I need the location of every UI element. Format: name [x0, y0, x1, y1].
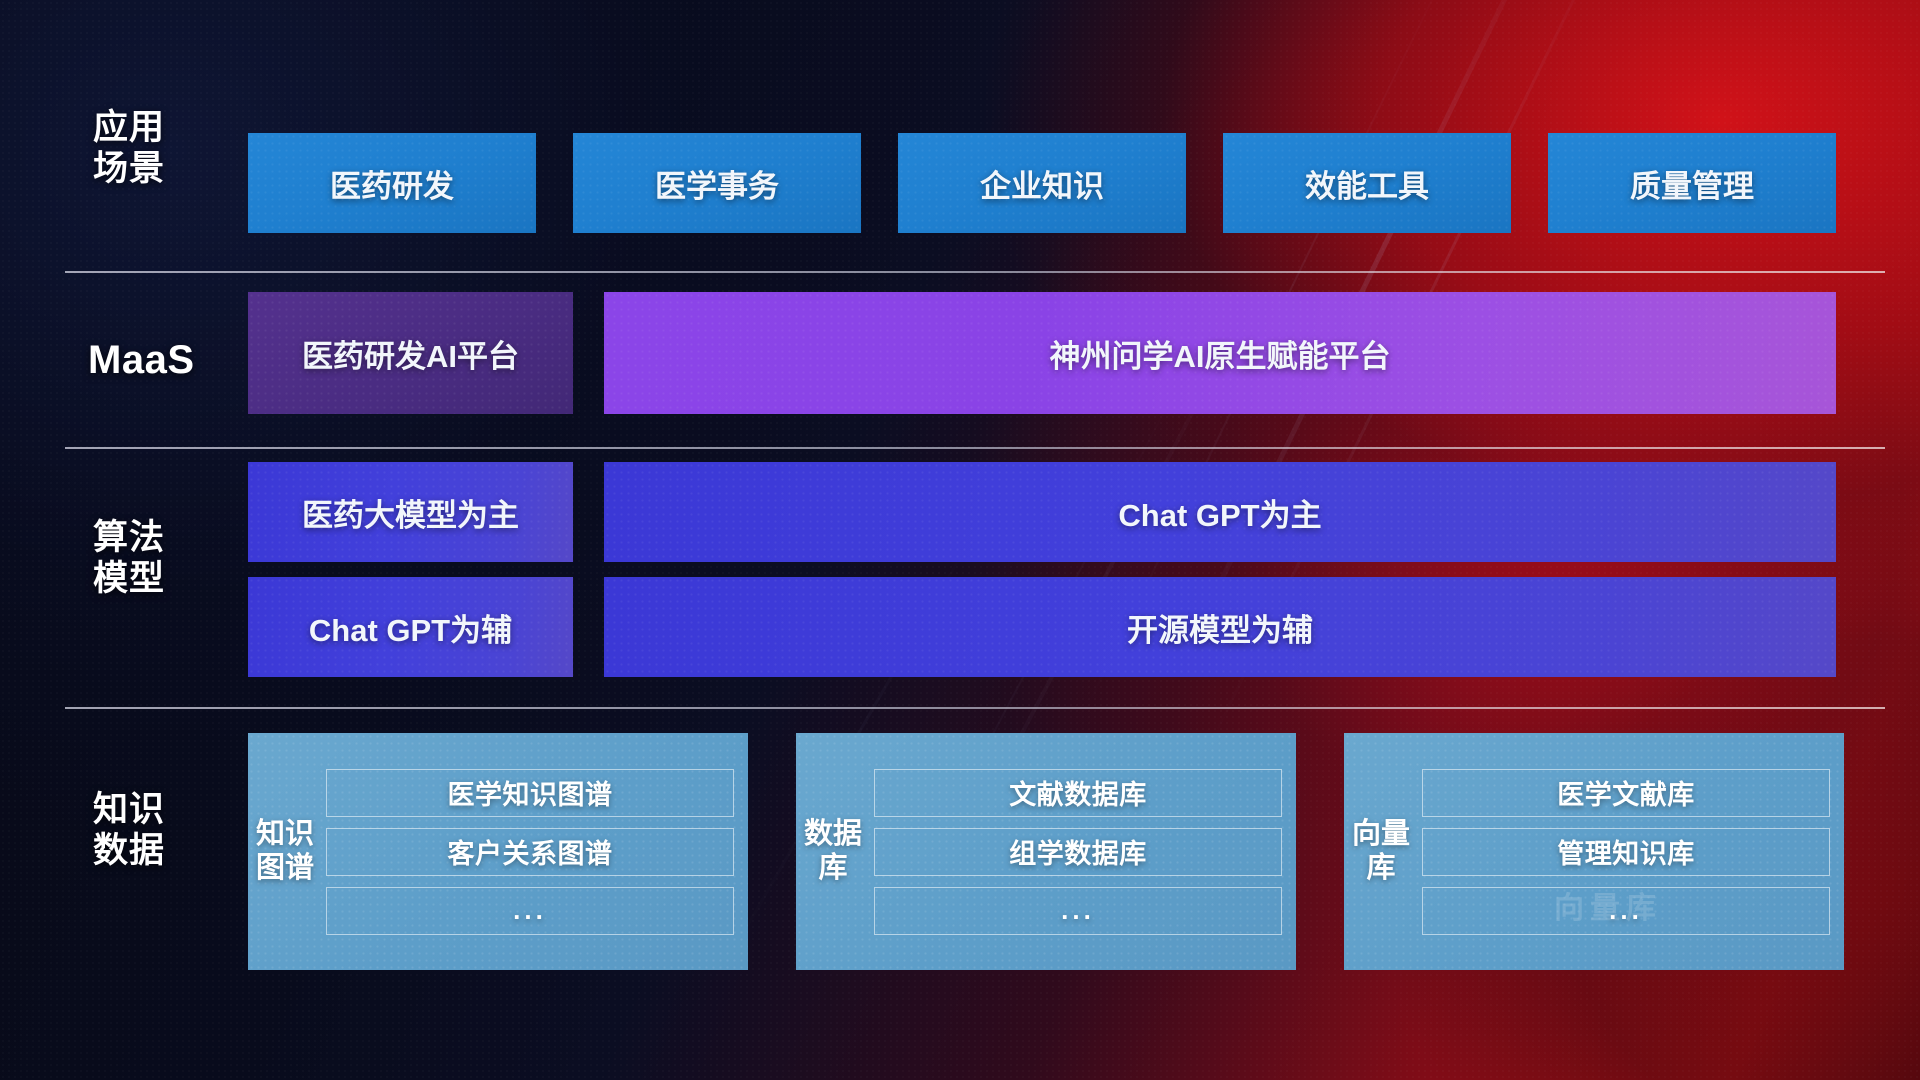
app-box-enterprise-knowledge[interactable]: 企业知识: [898, 133, 1186, 233]
architecture-diagram-canvas: 应用 场景 医药研发 医学事务 企业知识 效能工具 质量管理 MaaS 医药研发…: [0, 0, 1920, 1080]
app-box-quality-management[interactable]: 质量管理: [1548, 133, 1836, 233]
row-label-knowledge-data: 知识 数据: [93, 790, 213, 871]
knowledge-panel-vector-database[interactable]: 向量 库 医学文献库 管理知识库 ... 向量库: [1344, 733, 1844, 970]
divider-algorithm-knowledge: [65, 707, 1885, 709]
knowledge-panel-item-list: 医学知识图谱 客户关系图谱 ...: [322, 756, 748, 948]
knowledge-panel-database[interactable]: 数据 库 文献数据库 组学数据库 ...: [796, 733, 1296, 970]
app-box-medical-affairs[interactable]: 医学事务: [573, 133, 861, 233]
knowledge-panel-item-list: 文献数据库 组学数据库 ...: [870, 756, 1296, 948]
knowledge-panel-label: 知识 图谱: [248, 818, 322, 884]
knowledge-panel-item-list: 医学文献库 管理知识库 ...: [1418, 756, 1844, 948]
row-label-algorithm-model: 算法 模型: [93, 518, 213, 599]
algo-box-medicine-large-model-primary[interactable]: 医药大模型为主: [248, 462, 573, 562]
knowledge-item-medical-literature-library[interactable]: 医学文献库: [1422, 769, 1830, 817]
knowledge-item-customer-relation-graph[interactable]: 客户关系图谱: [326, 828, 734, 876]
row-label-maas: MaaS: [88, 337, 248, 383]
maas-box-medicine-rd-platform[interactable]: 医药研发AI平台: [248, 292, 573, 414]
algo-box-chatgpt-primary[interactable]: Chat GPT为主: [604, 462, 1836, 562]
knowledge-panel-knowledge-graph[interactable]: 知识 图谱 医学知识图谱 客户关系图谱 ...: [248, 733, 748, 970]
algo-box-chatgpt-secondary[interactable]: Chat GPT为辅: [248, 577, 573, 677]
knowledge-item-literature-database[interactable]: 文献数据库: [874, 769, 1282, 817]
knowledge-item-omics-database[interactable]: 组学数据库: [874, 828, 1282, 876]
knowledge-item-management-knowledge-library[interactable]: 管理知识库: [1422, 828, 1830, 876]
knowledge-item-medical-knowledge-graph[interactable]: 医学知识图谱: [326, 769, 734, 817]
divider-maas-algorithm: [65, 447, 1885, 449]
knowledge-item-more[interactable]: ...: [326, 887, 734, 935]
knowledge-panel-label: 向量 库: [1344, 818, 1418, 884]
knowledge-item-more[interactable]: ...: [874, 887, 1282, 935]
divider-application-maas: [65, 271, 1885, 273]
app-box-medicine-rd[interactable]: 医药研发: [248, 133, 536, 233]
maas-box-shenzhou-wenxue-platform[interactable]: 神州问学AI原生赋能平台: [604, 292, 1836, 414]
knowledge-item-more[interactable]: ...: [1422, 887, 1830, 935]
app-box-efficiency-tools[interactable]: 效能工具: [1223, 133, 1511, 233]
algo-box-opensource-model-secondary[interactable]: 开源模型为辅: [604, 577, 1836, 677]
row-label-application-scenario: 应用 场景: [93, 108, 213, 189]
knowledge-panel-label: 数据 库: [796, 818, 870, 884]
